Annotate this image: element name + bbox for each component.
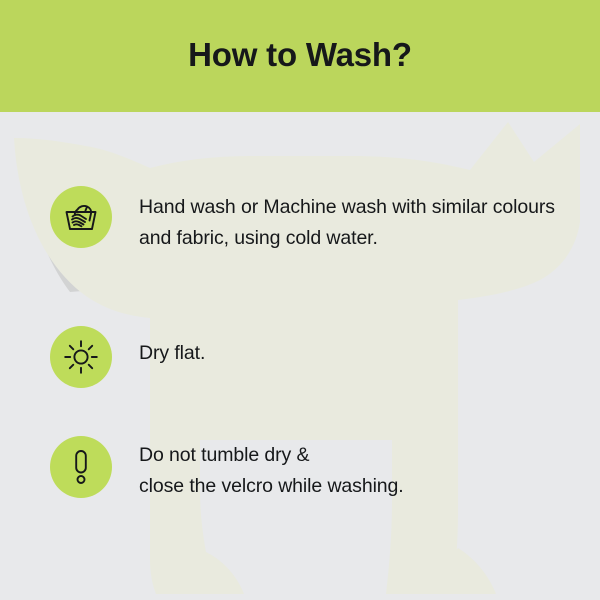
instruction-text: Dry flat. bbox=[139, 326, 570, 369]
exclamation-warning-icon bbox=[50, 436, 112, 498]
how-to-wash-card: How to Wash? bbox=[0, 0, 600, 600]
instruction-item-hand-wash: Hand wash or Machine wash with similar c… bbox=[50, 186, 570, 254]
instruction-list: Hand wash or Machine wash with similar c… bbox=[0, 112, 600, 600]
instruction-text: Hand wash or Machine wash with similar c… bbox=[139, 186, 570, 254]
instruction-item-warning: Do not tumble dry & close the velcro whi… bbox=[50, 436, 570, 502]
page-title: How to Wash? bbox=[188, 38, 412, 75]
sun-dry-flat-icon bbox=[50, 326, 112, 388]
instruction-item-dry-flat: Dry flat. bbox=[50, 326, 570, 388]
instruction-text: Do not tumble dry & close the velcro whi… bbox=[139, 436, 570, 502]
header-banner: How to Wash? bbox=[0, 0, 600, 112]
hand-wash-icon bbox=[50, 186, 112, 248]
